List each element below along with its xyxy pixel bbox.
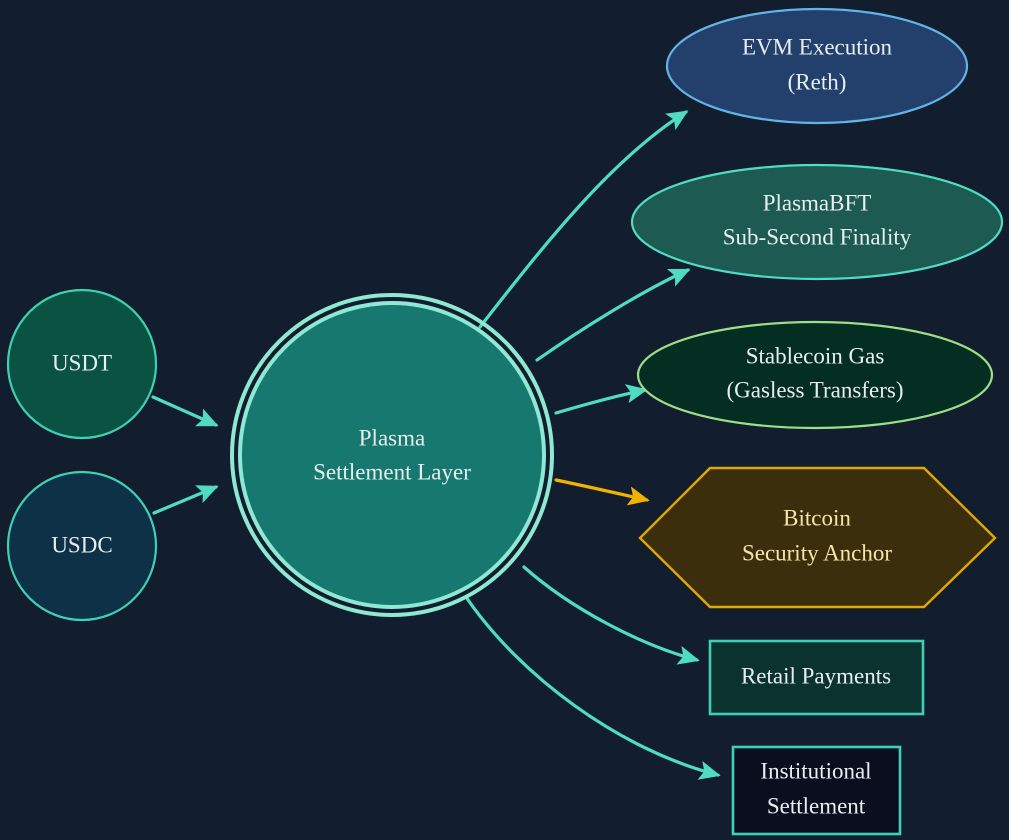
node-usdt[interactable]: USDT bbox=[8, 290, 156, 438]
retail-payments-box[interactable] bbox=[710, 641, 923, 714]
node-stablecoin-gas[interactable]: Stablecoin Gas (Gasless Transfers) bbox=[638, 322, 992, 428]
node-usdc[interactable]: USDC bbox=[8, 472, 156, 620]
flowchart-diagram: USDT USDC Plasma Settlement Layer EVM Ex… bbox=[0, 0, 1009, 840]
node-plasmabft[interactable]: PlasmaBFT Sub-Second Finality bbox=[632, 165, 1002, 279]
stablecoin-gas-ellipse[interactable] bbox=[638, 322, 992, 428]
node-core-settlement-layer[interactable]: Plasma Settlement Layer bbox=[232, 295, 552, 615]
node-bitcoin-security-anchor[interactable]: Bitcoin Security Anchor bbox=[640, 468, 995, 607]
flowchart-canvas: USDT USDC Plasma Settlement Layer EVM Ex… bbox=[0, 0, 1009, 840]
institutional-settlement-box[interactable] bbox=[733, 747, 900, 834]
node-evm-execution[interactable]: EVM Execution (Reth) bbox=[667, 9, 967, 123]
usdt-circle[interactable] bbox=[8, 290, 156, 438]
bitcoin-hexagon[interactable] bbox=[640, 468, 995, 607]
plasmabft-ellipse[interactable] bbox=[632, 165, 1002, 279]
core-inner-circle[interactable] bbox=[240, 303, 544, 607]
usdc-circle[interactable] bbox=[8, 472, 156, 620]
evm-ellipse[interactable] bbox=[667, 9, 967, 123]
node-institutional-settlement[interactable]: Institutional Settlement bbox=[733, 747, 900, 834]
node-retail-payments[interactable]: Retail Payments bbox=[710, 641, 923, 714]
